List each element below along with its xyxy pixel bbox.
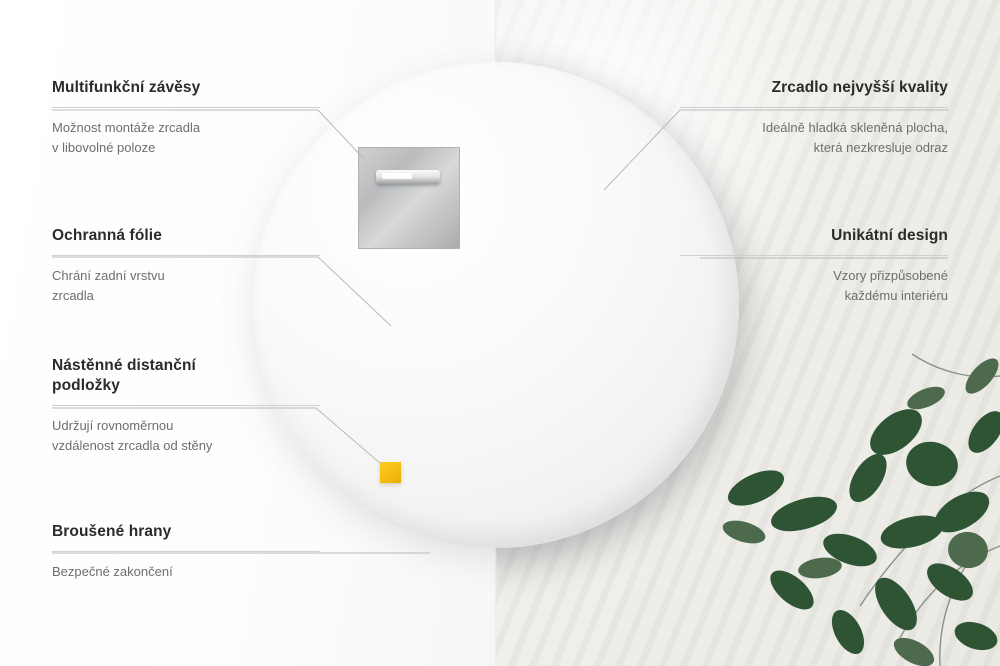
annotation-rule	[680, 255, 948, 256]
annotation-rule	[680, 107, 948, 108]
mirror-ground-edge	[253, 62, 739, 548]
eucalyptus-foliage	[700, 336, 1000, 666]
annotation-design: Unikátní design Vzory přizpůsobené každé…	[680, 226, 948, 306]
annotation-spacers: Nástěnné distanční podložky Udržují rovn…	[52, 356, 320, 456]
wall-bracket-plate	[358, 147, 460, 249]
annotation-body: Chrání zadní vrstvu zrcadla	[52, 266, 320, 306]
annotation-body: Vzory přizpůsobené každému interiéru	[680, 266, 948, 306]
annotation-title: Zrcadlo nejvyšší kvality	[680, 78, 948, 98]
annotation-foil: Ochranná fólie Chrání zadní vrstvu zrcad…	[52, 226, 320, 306]
yellow-spacer-pad	[380, 462, 401, 483]
wall-bracket-hook	[376, 170, 440, 184]
annotation-quality: Zrcadlo nejvyšší kvality Ideálně hladká …	[680, 78, 948, 158]
annotation-edges: Broušené hrany Bezpečné zakončení	[52, 522, 320, 582]
annotation-body: Udržují rovnoměrnou vzdálenost zrcadla o…	[52, 416, 320, 456]
annotation-body: Bezpečné zakončení	[52, 562, 320, 582]
annotation-rule	[52, 405, 320, 406]
annotation-rule	[52, 551, 320, 552]
annotation-title: Ochranná fólie	[52, 226, 320, 246]
product-infographic: Multifunkční závěsy Možnost montáže zrca…	[0, 0, 1000, 666]
annotation-title: Broušené hrany	[52, 522, 320, 542]
annotation-rule	[52, 255, 320, 256]
annotation-body: Možnost montáže zrcadla v libovolné polo…	[52, 118, 320, 158]
annotation-body: Ideálně hladká skleněná plocha, která ne…	[680, 118, 948, 158]
annotation-title: Multifunkční závěsy	[52, 78, 320, 98]
annotation-rule	[52, 107, 320, 108]
annotation-title: Nástěnné distanční podložky	[52, 356, 320, 396]
annotation-title: Unikátní design	[680, 226, 948, 246]
annotation-hangers: Multifunkční závěsy Možnost montáže zrca…	[52, 78, 320, 158]
